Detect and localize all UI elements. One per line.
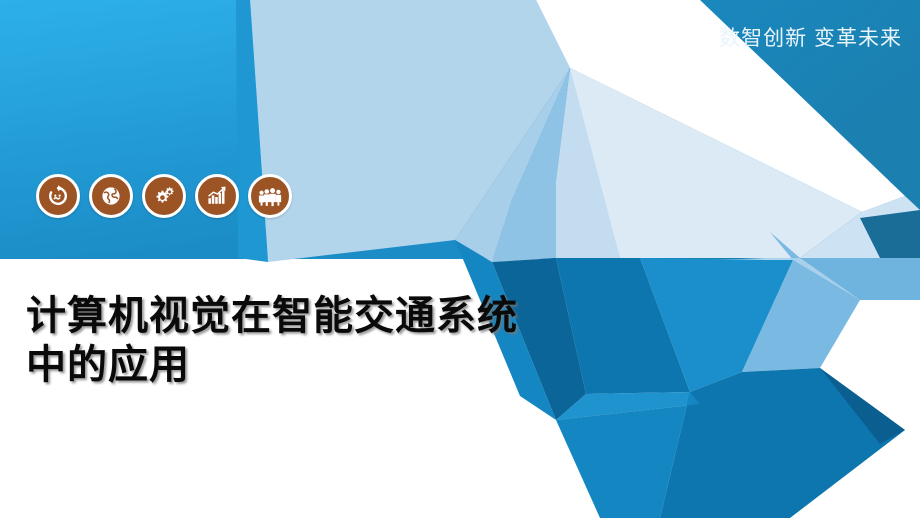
- refresh-cycle-icon[interactable]: [36, 174, 80, 218]
- people-group-icon[interactable]: [248, 174, 292, 218]
- gears-icon[interactable]: [142, 174, 186, 218]
- icon-row: [36, 174, 292, 218]
- slide-canvas: 数智创新 变革未来: [0, 0, 920, 518]
- background-geometric-artwork: [0, 0, 920, 518]
- polygon-dark-tail: [660, 368, 905, 518]
- slide-tagline: 数智创新 变革未来: [719, 26, 902, 51]
- globe-icon[interactable]: [89, 174, 133, 218]
- page-title-line-1: 计算机视觉在智能交通系统: [26, 292, 566, 341]
- page-title-line-2: 中的应用: [26, 341, 566, 390]
- page-title: 计算机视觉在智能交通系统 中的应用: [26, 292, 566, 390]
- bar-chart-icon[interactable]: [195, 174, 239, 218]
